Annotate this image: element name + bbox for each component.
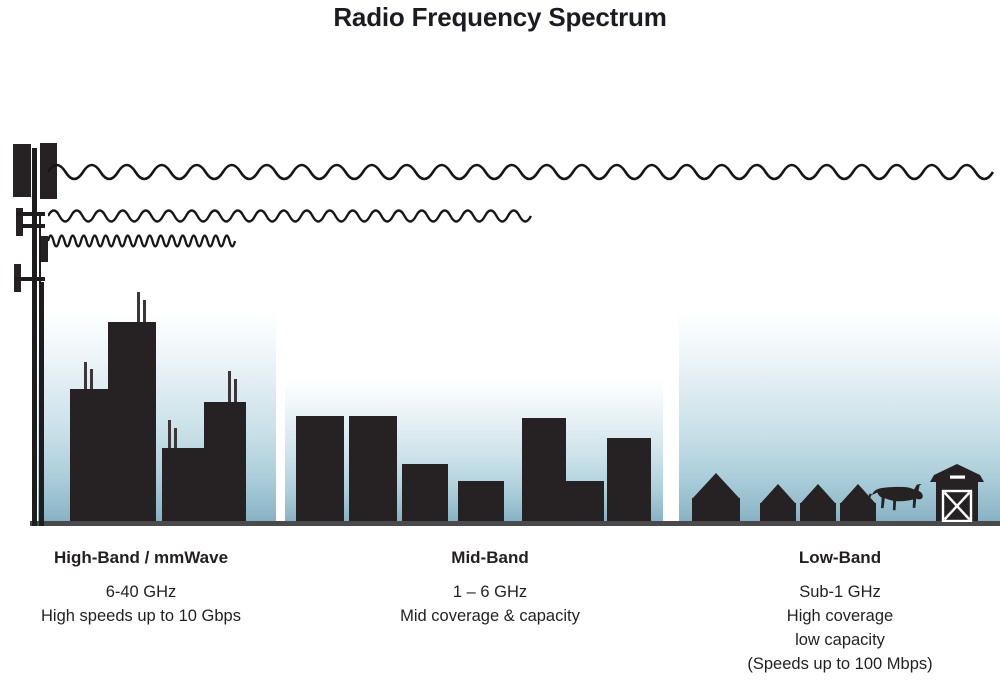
house-roof <box>760 484 796 504</box>
building <box>522 418 566 521</box>
building <box>349 416 397 521</box>
wave-long-low-band <box>48 152 998 192</box>
tower-crossarm-lower <box>14 277 45 281</box>
band-coverage-low: High coverage <box>680 605 1000 629</box>
caption-high-band: High-Band / mmWave 6-40 GHz High speeds … <box>0 548 282 629</box>
band-speed-high: High speeds up to 10 Gbps <box>0 605 282 629</box>
band-description-mid: 1 – 6 GHz Mid coverage & capacity <box>300 581 680 629</box>
building-spire <box>137 292 140 323</box>
band-frequency-high: 6-40 GHz <box>0 581 282 605</box>
house-body <box>800 503 836 521</box>
band-heading-mid: Mid-Band <box>300 548 680 568</box>
house-roof <box>800 484 836 504</box>
house-body <box>760 503 796 521</box>
building-spire <box>84 362 87 390</box>
caption-low-band: Low-Band Sub-1 GHz High coverage low cap… <box>680 548 1000 677</box>
building-spire <box>143 300 146 323</box>
building <box>607 438 651 521</box>
band-description-high: 6-40 GHz High speeds up to 10 Gbps <box>0 581 282 629</box>
building-spire <box>168 420 171 449</box>
house <box>760 484 796 521</box>
tower-mast <box>32 148 37 526</box>
building-spire <box>90 369 93 390</box>
band-coverage-mid: Mid coverage & capacity <box>300 605 680 629</box>
building <box>296 416 344 521</box>
barn-icon <box>928 462 986 522</box>
band-heading-low: Low-Band <box>680 548 1000 568</box>
building <box>458 481 504 521</box>
band-speed-low: (Speeds up to 100 Mbps) <box>680 653 1000 677</box>
building <box>204 402 246 521</box>
building <box>70 389 108 521</box>
building <box>162 448 204 521</box>
cow-icon <box>866 481 928 523</box>
building-spire <box>234 379 237 403</box>
building-spire <box>174 428 177 449</box>
antenna-panel-left <box>13 144 31 197</box>
building <box>108 322 156 521</box>
wave-short-high-band <box>48 226 258 256</box>
cell-tower <box>0 140 70 526</box>
band-description-low: Sub-1 GHz High coverage low capacity (Sp… <box>680 581 1000 677</box>
house <box>800 484 836 521</box>
caption-mid-band: Mid-Band 1 – 6 GHz Mid coverage & capaci… <box>300 548 680 629</box>
band-capacity-low: low capacity <box>680 629 1000 653</box>
tower-crossarm-upper2 <box>22 224 45 228</box>
band-frequency-mid: 1 – 6 GHz <box>300 581 680 605</box>
house-roof <box>692 473 740 499</box>
building <box>566 481 604 521</box>
ground-line <box>30 521 1000 526</box>
tower-crossarm-upper <box>16 212 45 216</box>
band-heading-high: High-Band / mmWave <box>0 548 282 568</box>
building-spire <box>228 371 231 403</box>
antenna-panel-mid-right <box>41 236 48 262</box>
house <box>692 473 740 521</box>
band-frequency-low: Sub-1 GHz <box>680 581 1000 605</box>
tower-mast-leg <box>40 282 44 526</box>
house-body <box>692 498 740 521</box>
building <box>402 464 448 521</box>
